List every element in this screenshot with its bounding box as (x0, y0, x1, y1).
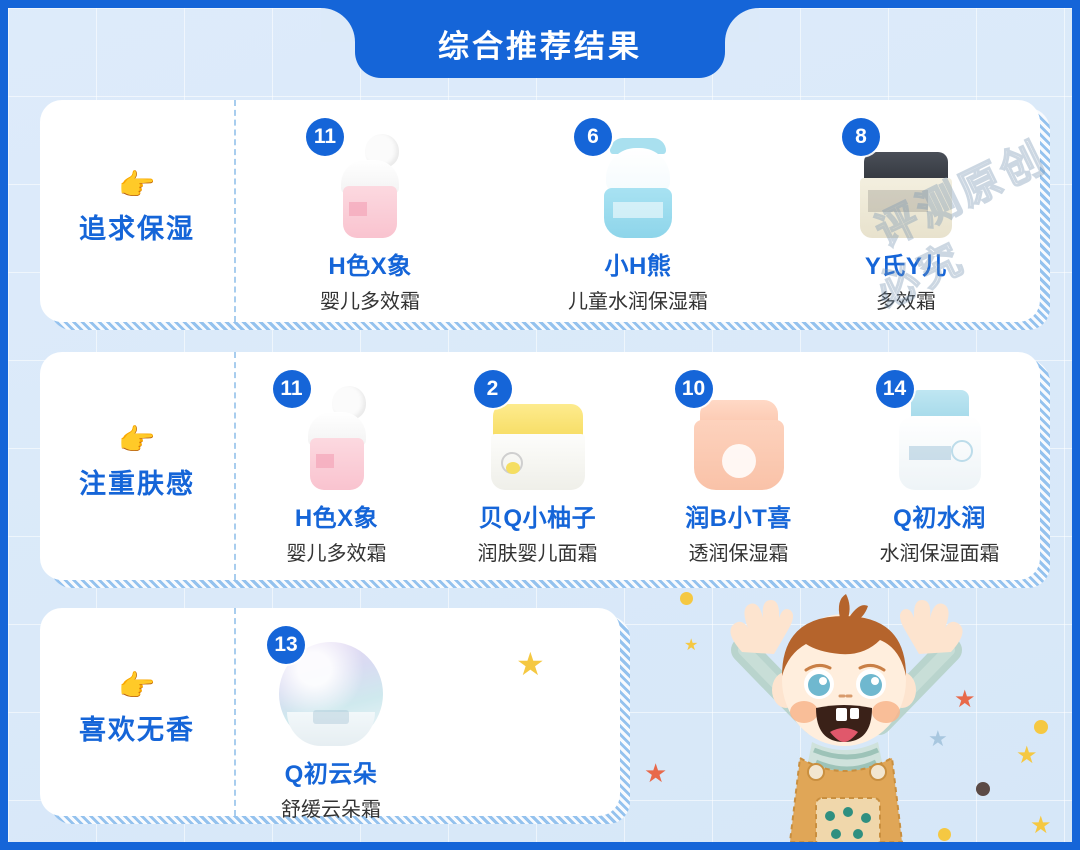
title-banner-area: 综合推荐结果 (8, 8, 1072, 78)
product-image: 11 (271, 372, 403, 490)
confetti-dot (1034, 720, 1048, 734)
product-subtitle: 润肤婴儿面霜 (478, 537, 598, 566)
product-image: 10 (673, 372, 805, 490)
pointing-finger-icon: 👉 (118, 171, 155, 201)
rank-badge: 13 (267, 626, 305, 664)
category-row-moisture: 👉 追求保湿 11 H色X象 婴儿多效霜 6 (40, 100, 1040, 322)
product-subtitle: 水润保湿面霜 (880, 537, 1000, 566)
product-subtitle: 透润保湿霜 (689, 537, 789, 566)
product-list: 11 H色X象 婴儿多效霜 2 贝Q小柚子 (236, 352, 1040, 580)
product-name: 贝Q小柚子 (479, 498, 596, 533)
rank-badge: 11 (306, 118, 344, 156)
product-list: 13 Q初云朵 舒缓云朵霜 (236, 608, 620, 816)
product-image: 13 (265, 628, 397, 746)
pointing-finger-icon: 👉 (118, 426, 155, 456)
rank-badge: 11 (273, 370, 311, 408)
rank-badge: 14 (876, 370, 914, 408)
product-subtitle: 儿童水润保湿霜 (568, 285, 708, 314)
product-image: 11 (304, 120, 436, 238)
product-name: Y氏Y儿 (865, 246, 947, 281)
banner-notch-right (725, 8, 759, 42)
category-label-cell: 👉 注重肤感 (40, 352, 236, 580)
product-card[interactable]: 6 小H熊 儿童水润保湿霜 (504, 114, 772, 314)
product-subtitle: 婴儿多效霜 (287, 537, 387, 566)
rank-badge: 6 (574, 118, 612, 156)
product-image: 8 (840, 120, 972, 238)
product-image: 6 (572, 120, 704, 238)
confetti-star: ★ (1030, 814, 1052, 838)
title-banner: 综合推荐结果 (355, 8, 725, 78)
product-card[interactable]: 8 Y氏Y儿 多效霜 (772, 114, 1040, 314)
category-label: 追求保湿 (79, 207, 195, 246)
category-label: 注重肤感 (79, 462, 195, 501)
product-name: H色X象 (295, 498, 378, 533)
pointing-finger-icon: 👉 (118, 672, 155, 702)
product-name: Q初云朵 (285, 754, 378, 789)
product-image: 14 (874, 372, 1006, 490)
product-name: H色X象 (328, 246, 411, 281)
cream-jar-icon (858, 152, 954, 238)
product-list: 11 H色X象 婴儿多效霜 6 小H熊 (236, 100, 1040, 322)
banner-notch-left (321, 8, 355, 42)
product-image: 2 (472, 372, 604, 490)
cream-jar-icon (601, 138, 675, 238)
page-frame: 综合推荐结果 评测原创 必究 👉 追求保湿 11 H (8, 8, 1072, 842)
cream-jar-icon (489, 404, 587, 490)
product-card[interactable]: 2 贝Q小柚子 润肤婴儿面霜 (437, 366, 638, 566)
rank-badge: 10 (675, 370, 713, 408)
category-label: 喜欢无香 (79, 708, 195, 747)
product-card[interactable]: 11 H色X象 婴儿多效霜 (236, 366, 437, 566)
product-subtitle: 婴儿多效霜 (320, 285, 420, 314)
cream-jar-icon (692, 400, 786, 490)
cream-jar-icon (339, 134, 401, 238)
product-subtitle: 舒缓云朵霜 (281, 793, 381, 822)
cream-jar-icon (306, 386, 368, 490)
product-card[interactable]: 13 Q初云朵 舒缓云朵霜 (236, 622, 426, 822)
product-subtitle: 多效霜 (876, 285, 936, 314)
category-label-cell: 👉 追求保湿 (40, 100, 236, 322)
rank-badge: 2 (474, 370, 512, 408)
product-name: 小H熊 (605, 246, 672, 281)
product-name: Q初水润 (893, 498, 986, 533)
product-card[interactable]: 10 润B小T喜 透润保湿霜 (638, 366, 839, 566)
page-title: 综合推荐结果 (438, 21, 642, 66)
product-card[interactable]: 14 Q初水润 水润保湿面霜 (839, 366, 1040, 566)
category-label-cell: 👉 喜欢无香 (40, 608, 236, 816)
cheering-child-illustration (664, 572, 1024, 842)
category-row-fragrance-free: 👉 喜欢无香 13 Q初云朵 舒缓云朵霜 (40, 608, 620, 816)
category-row-texture: 👉 注重肤感 11 H色X象 婴儿多效霜 2 (40, 352, 1040, 580)
product-name: 润B小T喜 (685, 498, 792, 533)
product-card[interactable]: 11 H色X象 婴儿多效霜 (236, 114, 504, 314)
rank-badge: 8 (842, 118, 880, 156)
confetti-star: ★ (516, 648, 545, 680)
cream-jar-icon (897, 390, 983, 490)
